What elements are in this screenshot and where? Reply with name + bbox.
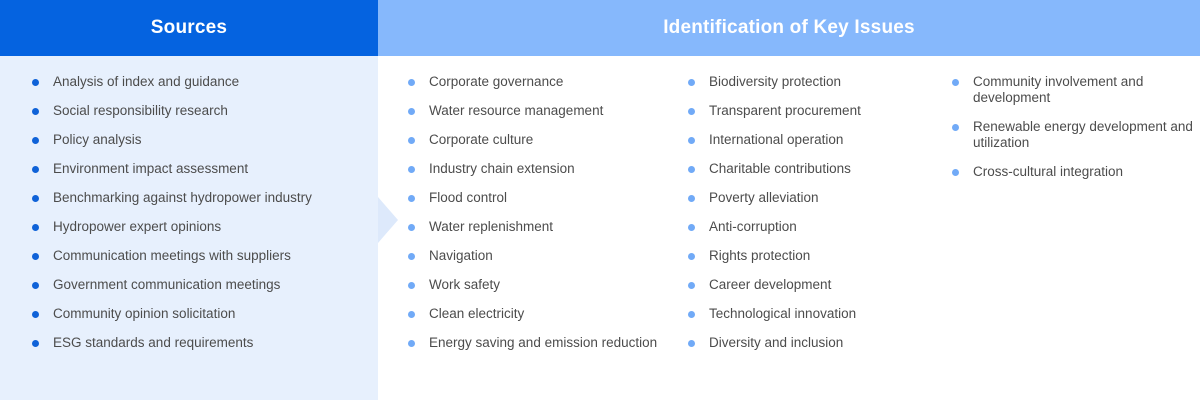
key-issues-panel-body: Corporate governanceWater resource manag… — [378, 56, 1200, 364]
bullet-dot-icon — [688, 282, 695, 289]
list-item-label: Anti-corruption — [709, 219, 797, 234]
bullet-dot-icon — [688, 311, 695, 318]
list-item: Clean electricity — [408, 306, 660, 322]
bullet-dot-icon — [688, 253, 695, 260]
sources-panel-body: Analysis of index and guidanceSocial res… — [0, 56, 378, 351]
list-item-label: Corporate culture — [429, 132, 533, 147]
sources-title: Sources — [151, 17, 227, 39]
list-item: Government communication meetings — [32, 277, 378, 293]
list-item-label: Flood control — [429, 190, 507, 205]
list-item: Benchmarking against hydropower industry — [32, 190, 378, 206]
key-issues-panel-header: Identification of Key Issues — [378, 0, 1200, 56]
list-item: Corporate culture — [408, 132, 660, 148]
list-item-label: Navigation — [429, 248, 493, 263]
list-item-label: Policy analysis — [53, 132, 142, 147]
list-item-label: Community involvement and development — [973, 74, 1143, 105]
bullet-dot-icon — [688, 195, 695, 202]
list-item: Anti-corruption — [688, 219, 925, 235]
bullet-dot-icon — [688, 108, 695, 115]
list-item: Communication meetings with suppliers — [32, 248, 378, 264]
list-item-label: Hydropower expert opinions — [53, 219, 221, 234]
list-item-label: Cross-cultural integration — [973, 164, 1123, 179]
list-item: Energy saving and emission reduction — [408, 335, 660, 351]
list-item: International operation — [688, 132, 925, 148]
list-item-label: Charitable contributions — [709, 161, 851, 176]
list-item-label: Industry chain extension — [429, 161, 575, 176]
list-item: Social responsibility research — [32, 103, 378, 119]
list-item-label: Career development — [709, 277, 831, 292]
list-item: ESG standards and requirements — [32, 335, 378, 351]
key-issues-column-3: Community involvement and developmentRen… — [925, 74, 1200, 364]
list-item: Renewable energy development and utiliza… — [952, 119, 1200, 151]
sources-panel-header: Sources — [0, 0, 378, 56]
list-item-label: Community opinion solicitation — [53, 306, 235, 321]
bullet-dot-icon — [32, 79, 39, 86]
list-item: Charitable contributions — [688, 161, 925, 177]
list-item: Career development — [688, 277, 925, 293]
bullet-dot-icon — [408, 311, 415, 318]
bullet-dot-icon — [32, 195, 39, 202]
list-item-label: Rights protection — [709, 248, 810, 263]
list-item-label: Poverty alleviation — [709, 190, 819, 205]
bullet-dot-icon — [408, 253, 415, 260]
list-item-label: Corporate governance — [429, 74, 563, 89]
list-item-label: Communication meetings with suppliers — [53, 248, 291, 263]
list-item: Transparent procurement — [688, 103, 925, 119]
bullet-dot-icon — [688, 340, 695, 347]
sources-list: Analysis of index and guidanceSocial res… — [32, 74, 378, 351]
list-item: Environment impact assessment — [32, 161, 378, 177]
list-item-label: Technological innovation — [709, 306, 856, 321]
list-item: Industry chain extension — [408, 161, 660, 177]
list-item-label: Renewable energy development and utiliza… — [973, 119, 1193, 150]
list-item-label: Transparent procurement — [709, 103, 861, 118]
list-item: Community involvement and development — [952, 74, 1200, 106]
key-issues-title: Identification of Key Issues — [663, 17, 915, 39]
list-item: Biodiversity protection — [688, 74, 925, 90]
bullet-dot-icon — [688, 79, 695, 86]
list-item-label: Biodiversity protection — [709, 74, 841, 89]
stakeholder-materiality-diagram: Sources Analysis of index and guidanceSo… — [0, 0, 1200, 400]
list-item-label: Government communication meetings — [53, 277, 280, 292]
list-item-label: ESG standards and requirements — [53, 335, 253, 350]
list-item: Water replenishment — [408, 219, 660, 235]
bullet-dot-icon — [408, 137, 415, 144]
list-item: Community opinion solicitation — [32, 306, 378, 322]
list-item: Rights protection — [688, 248, 925, 264]
list-item: Diversity and inclusion — [688, 335, 925, 351]
bullet-dot-icon — [688, 137, 695, 144]
list-item-label: International operation — [709, 132, 843, 147]
list-item-label: Energy saving and emission reduction — [429, 335, 657, 350]
bullet-dot-icon — [408, 195, 415, 202]
key-issues-column-2: Biodiversity protectionTransparent procu… — [660, 74, 925, 364]
bullet-dot-icon — [952, 169, 959, 176]
list-item: Work safety — [408, 277, 660, 293]
list-item-label: Benchmarking against hydropower industry — [53, 190, 312, 205]
list-item-label: Water resource management — [429, 103, 603, 118]
list-item-label: Analysis of index and guidance — [53, 74, 239, 89]
bullet-dot-icon — [32, 311, 39, 318]
bullet-dot-icon — [408, 166, 415, 173]
list-item: Technological innovation — [688, 306, 925, 322]
bullet-dot-icon — [32, 253, 39, 260]
list-item-label: Environment impact assessment — [53, 161, 248, 176]
bullet-dot-icon — [32, 282, 39, 289]
list-item-label: Work safety — [429, 277, 500, 292]
bullet-dot-icon — [408, 79, 415, 86]
list-item-label: Clean electricity — [429, 306, 524, 321]
list-item: Poverty alleviation — [688, 190, 925, 206]
key-issues-list-3: Community involvement and developmentRen… — [952, 74, 1200, 180]
bullet-dot-icon — [688, 224, 695, 231]
bullet-dot-icon — [408, 108, 415, 115]
list-item-label: Water replenishment — [429, 219, 553, 234]
key-issues-list-1: Corporate governanceWater resource manag… — [408, 74, 660, 351]
list-item: Water resource management — [408, 103, 660, 119]
bullet-dot-icon — [408, 282, 415, 289]
list-item: Policy analysis — [32, 132, 378, 148]
list-item: Hydropower expert opinions — [32, 219, 378, 235]
list-item: Corporate governance — [408, 74, 660, 90]
key-issues-list-2: Biodiversity protectionTransparent procu… — [688, 74, 925, 351]
key-issues-panel: Identification of Key Issues Corporate g… — [378, 0, 1200, 400]
bullet-dot-icon — [32, 340, 39, 347]
bullet-dot-icon — [952, 79, 959, 86]
bullet-dot-icon — [32, 224, 39, 231]
bullet-dot-icon — [32, 166, 39, 173]
list-item: Navigation — [408, 248, 660, 264]
bullet-dot-icon — [32, 108, 39, 115]
bullet-dot-icon — [408, 340, 415, 347]
list-item-label: Diversity and inclusion — [709, 335, 843, 350]
list-item: Flood control — [408, 190, 660, 206]
list-item: Cross-cultural integration — [952, 164, 1200, 180]
bullet-dot-icon — [32, 137, 39, 144]
bullet-dot-icon — [688, 166, 695, 173]
sources-panel: Sources Analysis of index and guidanceSo… — [0, 0, 378, 400]
list-item-label: Social responsibility research — [53, 103, 228, 118]
key-issues-column-1: Corporate governanceWater resource manag… — [378, 74, 660, 364]
list-item: Analysis of index and guidance — [32, 74, 378, 90]
bullet-dot-icon — [408, 224, 415, 231]
bullet-dot-icon — [952, 124, 959, 131]
